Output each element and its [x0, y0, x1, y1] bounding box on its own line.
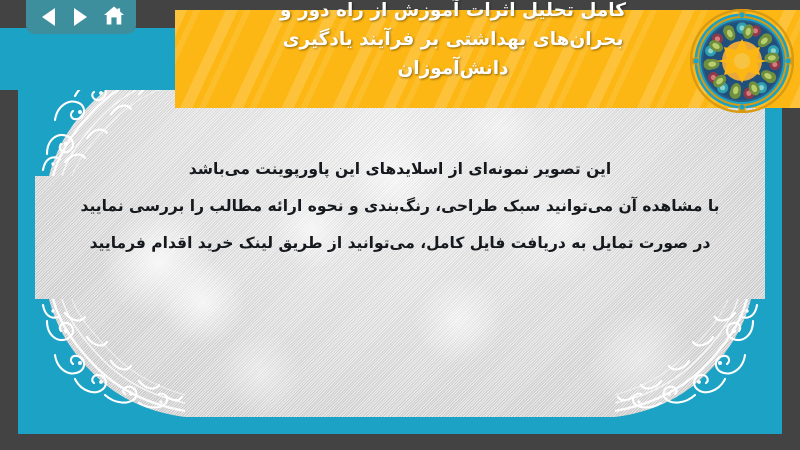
slide-title: کامل تحلیل اثرات آموزش از راه دور و بحرا… — [218, 0, 688, 83]
body-line-2: با مشاهده آن می‌توانید سبک طراحی، رنگ‌بن… — [35, 188, 765, 225]
title-line-1: کامل تحلیل اثرات آموزش از راه دور و — [218, 0, 688, 25]
next-slide-button[interactable] — [68, 4, 94, 30]
slide-content-area: این تصویر نمونه‌ای از اسلایدهای این پاور… — [35, 58, 765, 417]
arabesque-corner-icon-bottom-left — [35, 299, 185, 417]
home-icon — [103, 5, 125, 30]
previous-slide-button[interactable] — [35, 4, 61, 30]
body-line-1: این تصویر نمونه‌ای از اسلایدهای این پاور… — [35, 151, 765, 188]
body-line-3: در صورت تمایل به دریافت فایل کامل، می‌تو… — [35, 225, 765, 262]
triangle-left-icon — [42, 8, 55, 26]
persian-medallion-icon — [690, 9, 794, 113]
slide-body-text: این تصویر نمونه‌ای از اسلایدهای این پاور… — [35, 151, 765, 262]
title-line-3: دانش‌آموزان — [218, 54, 688, 83]
triangle-right-icon — [74, 8, 87, 26]
navigation-bar — [26, 0, 136, 34]
slide-viewer: این تصویر نمونه‌ای از اسلایدهای این پاور… — [0, 0, 800, 450]
home-button[interactable] — [101, 4, 127, 30]
arabesque-corner-icon-bottom-right — [615, 299, 765, 417]
title-line-2: بحران‌های بهداشتی بر فرآیند یادگیری — [218, 25, 688, 54]
